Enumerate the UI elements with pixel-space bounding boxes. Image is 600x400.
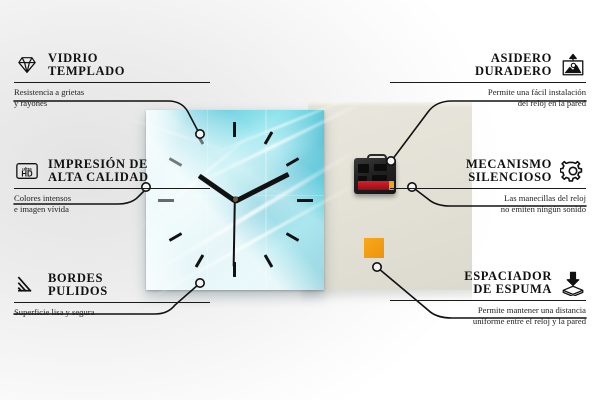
feature-rule (390, 300, 586, 301)
feature-bordes-pulidos: BORDES PULIDOS Superficie lisa y segura (14, 272, 210, 318)
feature-titles: VIDRIO TEMPLADO (48, 52, 125, 79)
feature-head: ultra HD IMPRESIÓN DE ALTA CALIDAD (14, 158, 210, 188)
feature-title-line1: VIDRIO (48, 52, 98, 65)
feature-desc-line1: Resistencia a grietas (14, 87, 210, 98)
feature-head: BORDES PULIDOS (14, 272, 210, 302)
feature-rule (14, 188, 210, 189)
feature-impresion-alta-calidad: ultra HD IMPRESIÓN DE ALTA CALIDAD Color… (14, 158, 210, 215)
feature-rule (390, 82, 586, 83)
feature-title-line1: MECANISMO (466, 158, 552, 171)
feature-title-line2: DE ESPUMA (473, 283, 552, 296)
feature-description: Resistencia a grietas y rayones (14, 87, 210, 110)
feature-desc-line2: e imagen vívida (14, 204, 210, 215)
feature-head: ASIDERO DURADERO (390, 52, 586, 82)
infographic-canvas: VIDRIO TEMPLADO Resistencia a grietas y … (0, 0, 600, 400)
feature-titles: BORDES PULIDOS (48, 272, 108, 299)
feature-desc-line1: Superficie lisa y segura (14, 307, 210, 318)
feature-mecanismo-silencioso: MECANISMO SILENCIOSO Las manecillas del … (390, 158, 586, 215)
feature-vidrio-templado: VIDRIO TEMPLADO Resistencia a grietas y … (14, 52, 210, 109)
picture-hanger-icon (560, 52, 586, 78)
feature-titles: ASIDERO DURADERO (475, 52, 552, 79)
polished-edges-icon (14, 272, 40, 298)
feature-desc-line1: Colores intensos (14, 193, 210, 204)
ultra-hd-icon-bottom-text: HD (21, 170, 33, 179)
feature-title-line1: IMPRESIÓN DE (48, 158, 148, 171)
feature-desc-line2: del reloj en la pared (390, 98, 586, 109)
feature-desc-line2: no emiten ningún sonido (390, 204, 586, 215)
ultra-hd-icon: ultra HD (14, 158, 40, 184)
feature-titles: ESPACIADOR DE ESPUMA (464, 270, 552, 297)
feature-rule (14, 302, 210, 303)
feature-description: Las manecillas del reloj no emiten ningú… (390, 193, 586, 216)
feature-espaciador-de-espuma: ESPACIADOR DE ESPUMA Permite mantener un… (390, 270, 586, 327)
feature-title-line1: ASIDERO (491, 52, 552, 65)
feature-desc-line2: y rayones (14, 98, 210, 109)
diamond-icon (14, 52, 40, 78)
connector-node (373, 263, 381, 271)
feature-head: ESPACIADOR DE ESPUMA (390, 270, 586, 300)
feature-rule (390, 188, 586, 189)
feature-title-line1: BORDES (48, 272, 103, 285)
feature-desc-line1: Permite mantener una distancia (390, 305, 586, 316)
feature-head: VIDRIO TEMPLADO (14, 52, 210, 82)
feature-titles: MECANISMO SILENCIOSO (466, 158, 552, 185)
feature-title-line2: PULIDOS (48, 285, 108, 298)
gear-icon (560, 158, 586, 184)
feature-title-line2: DURADERO (475, 65, 552, 78)
feature-description: Superficie lisa y segura (14, 307, 210, 318)
feature-title-line2: ALTA CALIDAD (48, 171, 149, 184)
feature-desc-line2: uniforme entre el reloj y la pared (390, 316, 586, 327)
connector-node (196, 130, 204, 138)
feature-title-line1: ESPACIADOR (464, 270, 552, 283)
feature-description: Colores intensos e imagen vívida (14, 193, 210, 216)
feature-rule (14, 82, 210, 83)
feature-title-line2: TEMPLADO (48, 65, 125, 78)
feature-desc-line1: Permite una fácil instalación (390, 87, 586, 98)
feature-asidero-duradero: ASIDERO DURADERO Permite una fácil insta… (390, 52, 586, 109)
feature-titles: IMPRESIÓN DE ALTA CALIDAD (48, 158, 149, 185)
feature-description: Permite una fácil instalación del reloj … (390, 87, 586, 110)
feature-desc-line1: Las manecillas del reloj (390, 193, 586, 204)
feature-head: MECANISMO SILENCIOSO (390, 158, 586, 188)
foam-spacer-icon (560, 270, 586, 296)
feature-description: Permite mantener una distancia uniforme … (390, 305, 586, 328)
feature-title-line2: SILENCIOSO (468, 171, 552, 184)
